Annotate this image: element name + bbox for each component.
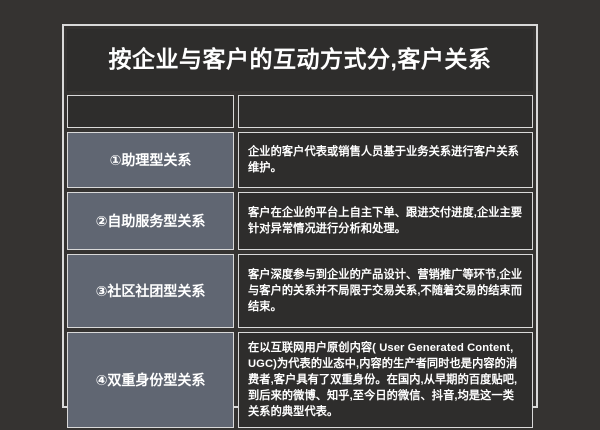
- row-label-cell-1: ①助理型关系: [67, 132, 234, 188]
- row-description-text-4: 在以互联网用户原创内容( User Generated Content, UGC…: [248, 340, 523, 420]
- relationship-table: 按企业与客户的互动方式分,客户关系 ①助理型关系 企业的客户代表或销售人员基于业…: [62, 24, 538, 408]
- table-row: ①助理型关系 企业的客户代表或销售人员基于业务关系进行客户关系维护。: [67, 132, 533, 188]
- row-label-cell-4: ④双重身份型关系: [67, 332, 234, 428]
- row-description-cell-2: 客户在企业的平台上自主下单、跟进交付进度,企业主要针对异常情况进行分析和处理。: [238, 192, 533, 250]
- slide-canvas: 按企业与客户的互动方式分,客户关系 ①助理型关系 企业的客户代表或销售人员基于业…: [0, 0, 600, 430]
- header-cell-label: [67, 95, 234, 128]
- page-title: 按企业与客户的互动方式分,客户关系: [109, 46, 492, 74]
- row-description-text-3: 客户深度参与到企业的产品设计、营销推广等环节,企业与客户的关系并不局限于交易关系…: [248, 267, 523, 315]
- table-header-row: [67, 95, 533, 128]
- row-label-cell-3: ③社区社团型关系: [67, 254, 234, 328]
- table-row: ④双重身份型关系 在以互联网用户原创内容( User Generated Con…: [67, 332, 533, 428]
- row-label-text-1: ①助理型关系: [110, 151, 192, 169]
- header-cell-description: [238, 95, 533, 128]
- row-label-cell-2: ②自助服务型关系: [67, 192, 234, 250]
- row-label-text-4: ④双重身份型关系: [96, 371, 206, 389]
- table-row: ③社区社团型关系 客户深度参与到企业的产品设计、营销推广等环节,企业与客户的关系…: [67, 254, 533, 328]
- table-title-bar: 按企业与客户的互动方式分,客户关系: [67, 29, 533, 91]
- row-description-cell-4: 在以互联网用户原创内容( User Generated Content, UGC…: [238, 332, 533, 428]
- row-label-text-3: ③社区社团型关系: [96, 282, 206, 300]
- row-description-cell-3: 客户深度参与到企业的产品设计、营销推广等环节,企业与客户的关系并不局限于交易关系…: [238, 254, 533, 328]
- row-label-text-2: ②自助服务型关系: [96, 212, 206, 230]
- table-row: ②自助服务型关系 客户在企业的平台上自主下单、跟进交付进度,企业主要针对异常情况…: [67, 192, 533, 250]
- row-description-text-1: 企业的客户代表或销售人员基于业务关系进行客户关系维护。: [248, 144, 523, 176]
- row-description-text-2: 客户在企业的平台上自主下单、跟进交付进度,企业主要针对异常情况进行分析和处理。: [248, 205, 523, 237]
- row-description-cell-1: 企业的客户代表或销售人员基于业务关系进行客户关系维护。: [238, 132, 533, 188]
